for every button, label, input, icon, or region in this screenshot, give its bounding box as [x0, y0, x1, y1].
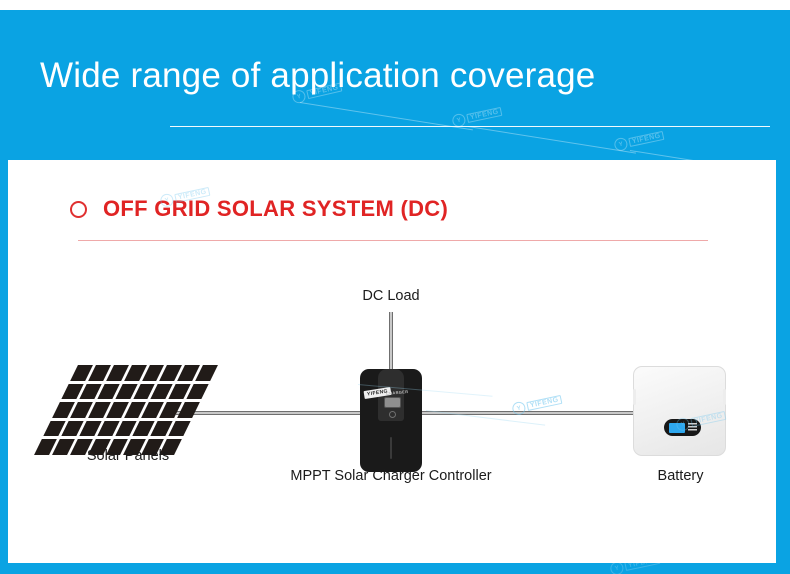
- watermark-text: YIFENG: [628, 131, 664, 147]
- watermark-text: YIFENG: [526, 395, 562, 411]
- wire-solar-to-controller: [176, 411, 362, 415]
- page-title: Wide range of application coverage: [40, 56, 595, 96]
- watermark-logo: Y YIFENG: [451, 105, 503, 128]
- battery-mount-tab-left: [633, 389, 636, 405]
- frame-left-edge: [0, 160, 8, 563]
- solar-panel-icon: [34, 365, 218, 455]
- controller-vent-slot: [390, 437, 392, 459]
- frame-right-edge: [776, 160, 790, 563]
- battery-display-panel: [664, 419, 701, 436]
- page-root: Wide range of application coverage Y YIF…: [0, 0, 790, 574]
- battery-mount-tab-right: [723, 389, 726, 405]
- watermark-guide-line: [468, 126, 636, 154]
- watermark-logo: Y YIFENG: [613, 129, 665, 152]
- battery-label: Battery: [623, 468, 738, 484]
- watermark-text: YIFENG: [624, 563, 660, 571]
- frame-bottom-strip: Y YIFENG: [0, 563, 790, 574]
- wire-controller-to-dc-load: [389, 312, 393, 376]
- solar-panels-label: Solar Panels: [38, 448, 218, 464]
- battery-lcd-screen: [669, 423, 685, 433]
- watermark-guide-line: [630, 150, 788, 160]
- wire-controller-to-battery: [418, 411, 653, 415]
- dc-load-label: DC Load: [331, 288, 451, 304]
- mppt-controller-icon: YIFENG CHARGER: [360, 369, 422, 472]
- controller-power-button[interactable]: [389, 411, 396, 418]
- mppt-controller-label: MPPT Solar Charger Controller: [266, 468, 516, 484]
- banner-divider: [170, 126, 770, 127]
- controller-display: [384, 397, 401, 408]
- watermark-logo: Y YIFENG: [609, 563, 661, 574]
- battery-body: [633, 366, 726, 456]
- watermark-badge-icon: Y: [613, 137, 628, 152]
- watermark-badge-icon: Y: [609, 563, 624, 574]
- battery-icon: [633, 366, 726, 456]
- system-diagram: Solar Panels YIFENG CHARGER MPPT Solar C…: [8, 160, 776, 563]
- watermark-text: YIFENG: [466, 107, 502, 123]
- header-banner: Wide range of application coverage Y YIF…: [0, 10, 790, 160]
- battery-led-indicators: [688, 423, 697, 432]
